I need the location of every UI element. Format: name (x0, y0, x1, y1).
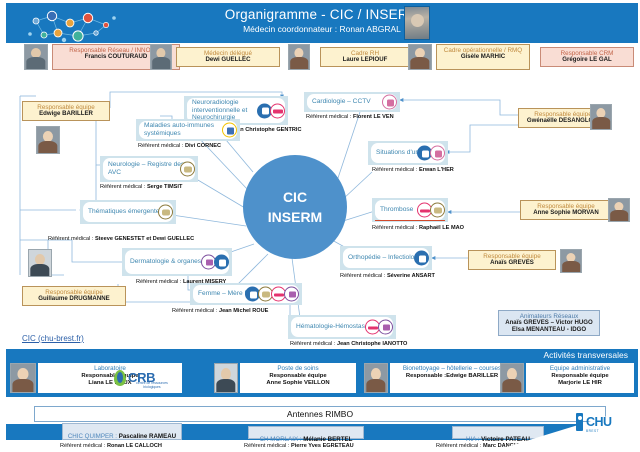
ref-label: Référent médical : (60, 443, 107, 449)
role-responsable-equipe-guillaume-drugmanne[interactable]: Responsable équipe Guillaume DRUGMANNE (22, 286, 126, 306)
ref-thematiques-emergentes: Référent médical : Steeve GENESTET et De… (48, 236, 194, 242)
ref-hematologie-hemostase: Référent médical : Jean Christophe IANOT… (290, 341, 407, 347)
role-name: Grégoire LE GAL (543, 57, 631, 64)
role-responsable-equipe-anais-greves[interactable]: Responsable équipe Anaïs GREVES (468, 250, 556, 270)
role-medecin-delegue[interactable]: Médecin délégué Dewi GUELLEC (176, 47, 280, 67)
photo-anne-sophie-morvan (608, 198, 630, 222)
ref-label: Référent médical : (138, 143, 185, 149)
theme-situations-urgence[interactable]: Situations d'urgence (368, 141, 448, 165)
fhu-logo-icon (430, 203, 445, 218)
photo-anne-sophie-veillon (214, 363, 238, 393)
theme-thrombose[interactable]: Thrombose (372, 198, 448, 222)
role-responsable-equipe-anne-sophie-morvan[interactable]: Responsable équipe Anne Sophie MORVAN (520, 200, 612, 220)
antennes-rimbo-title: Antennes RIMBO (287, 409, 353, 419)
theme-neurologie-avc[interactable]: Neurologie – Registre des AVC (100, 156, 198, 182)
photo-dewi-guellec (150, 44, 172, 70)
theme-hematologie-hemostase[interactable]: Hématologie-Hémostase (288, 315, 396, 339)
chu-logo-name: CHU (586, 415, 612, 429)
fhu-logo-icon (158, 205, 173, 220)
ref-ch-morlaix: Référent médical : Pierre Yves EGRETEAU (244, 443, 354, 449)
theme-label: Thématiques émergentes (80, 208, 163, 216)
ref-femme-mere-enfant: Référent médical : Jean Michel ROUE (172, 308, 268, 314)
site-link-cic-chu-brest[interactable]: CIC (chu-brest.fr) (22, 334, 84, 343)
role-name: Anne Sophie MORVAN (523, 210, 609, 217)
transversal-title: Bionettoyage – hôtellerie – courses (390, 365, 514, 373)
fhu-logo-icon (180, 162, 195, 177)
center-line1: CIC (283, 187, 307, 207)
ref-orthopedie-infectiologie: Référent médical : Séverine ANSART (340, 273, 435, 279)
theme-logos (182, 162, 195, 177)
antenna-site: CH MORLAIX : (260, 436, 304, 443)
transversal-item-bionettoyage[interactable]: Bionettoyage – hôtellerie – courses Resp… (390, 363, 514, 393)
theme-label: Thrombose (372, 206, 413, 214)
role-name: Dewi GUELLEC (179, 57, 277, 64)
theme-logos (203, 255, 229, 270)
photo-gwenaelle-desanglois (590, 104, 612, 130)
partner-logo-icon (284, 287, 299, 302)
center-line2: INSERM (268, 207, 322, 227)
chu-brest-logo: CHU BREST (576, 410, 632, 434)
theme-label: Orthopédie – Infectiologie (340, 254, 423, 262)
ref-label: Référent médical : (136, 279, 183, 285)
antenna-text: CHIC QUIMPER : Pascaline RAMEAU (68, 433, 176, 440)
organigramme-page: Organigramme - CIC / INSERM Médecin coor… (0, 0, 640, 452)
ref-name: Steeve GENESTET et Dewi GUELLEC (95, 236, 194, 242)
ref-name: Séverine ANSART (387, 273, 435, 279)
ref-chic-quimper: Référent médical : Ronan LE CALLOCH (60, 443, 162, 449)
inserm-logo-icon (214, 255, 229, 270)
ref-maladies-auto-immunes: Référent médical : Divi CORNEC (138, 143, 221, 149)
ref-label: Référent médical : (290, 341, 337, 347)
ref-name: Pierre Yves EGRETEAU (291, 443, 354, 449)
ref-name: Divi CORNEC (185, 143, 221, 149)
ref-label: Référent médical : (48, 236, 95, 242)
role-responsable-crm[interactable]: Responsable CRM Grégoire LE GAL (540, 47, 634, 67)
ref-name: Jean Christophe GENTRIC (231, 127, 302, 133)
ref-name: Ronan LE CALLOCH (107, 443, 162, 449)
ref-label: Référent médical : (172, 308, 219, 314)
partner-logo-icon (430, 146, 445, 161)
antenna-site: CHIC QUIMPER : (68, 433, 119, 440)
antennes-rimbo-header: Antennes RIMBO (34, 406, 606, 422)
photo-edwige-bariller-bionettoyage (364, 363, 388, 393)
theme-logos (160, 205, 173, 220)
role-name: Anaïs GREVES (471, 260, 553, 267)
antenna-text: HIA : Victoire PATEAU (466, 436, 530, 443)
role-name: Gisèle MARHIC (439, 54, 527, 61)
antenna-text: CH MORLAIX : Mélanie BERTEL (260, 436, 353, 443)
role-name: Edwige BARILLER (25, 111, 107, 118)
center-node-cic-inserm: CIC INSERM (243, 155, 347, 259)
ref-neurologie-avc: Référent médical : Serge TIMSIT (100, 184, 182, 190)
photo-marjorie-le-hir (500, 363, 524, 393)
theme-neuroradiologie[interactable]: Neuroradiologie interventionnelle et Neu… (184, 96, 288, 125)
theme-logos (419, 146, 445, 161)
theme-dermatologie[interactable]: Dermatologie & organes des sens (122, 248, 232, 276)
antenna-hia[interactable]: HIA : Victoire PATEAU (452, 426, 544, 439)
ref-thrombose: Référent médical : Raphaël LE MAO (372, 225, 464, 231)
antenna-ch-morlaix[interactable]: CH MORLAIX : Mélanie BERTEL (248, 426, 364, 439)
theme-logos (419, 203, 445, 218)
theme-logos (259, 103, 285, 118)
theme-logos (416, 251, 429, 266)
ref-label: Référent médical : (340, 273, 387, 279)
ref-label: Référent médical : (244, 443, 291, 449)
photo-francis-couturaud (24, 44, 48, 70)
transversal-band-title: Activités transversales (543, 350, 628, 360)
photo-guillaume-drugmanne (28, 249, 52, 277)
theme-logos (247, 287, 299, 302)
ref-name: Erwan L'HER (419, 167, 454, 173)
transversal-item-poste-de-soins[interactable]: Poste de soins Responsable équipe Anne S… (240, 363, 356, 393)
transversal-title: Poste de soins (240, 365, 356, 373)
fcrin-logo-icon (270, 103, 285, 118)
transversal-item-laboratoire[interactable]: Laboratoire Responsable équipe Liana LE … (38, 363, 182, 393)
ref-label: Référent médical : (100, 184, 147, 190)
ref-name: Jean Christophe IANOTTO (337, 341, 407, 347)
theme-logos (384, 95, 397, 110)
theme-label: Cardiologie – CCTV (304, 98, 371, 106)
theme-logos (224, 123, 237, 138)
theme-label: Hématologie-Hémostase (288, 323, 369, 331)
photo-liana-le-roux (10, 363, 36, 393)
ref-name: Jean Michel ROUE (219, 308, 268, 314)
ref-label: Référent médical : (372, 167, 419, 173)
ref-label: Référent médical : (372, 225, 419, 231)
page-title: Organigramme - CIC / INSERM (6, 7, 638, 22)
theme-logos (367, 320, 393, 335)
photo-gisele-marhic (408, 44, 432, 70)
antenna-contact: Pascaline RAMEAU (119, 433, 176, 440)
antenna-contact: Mélanie BERTEL (303, 436, 352, 443)
animateurs-line2: Elsa MENANTEAU - IDGO (501, 327, 597, 334)
chu-logo-sub: BREST (586, 429, 599, 433)
role-name: Laure LEPIOUF (323, 57, 407, 64)
transversal-role: Responsable équipe (240, 373, 356, 380)
ref-cardiologie-cctv: Référent médical : Florent LE VEN (306, 114, 394, 120)
transversal-role: Responsable :Edwige BARILLER (390, 373, 514, 380)
role-name: Guillaume DRUGMANNE (25, 296, 123, 303)
transversal-role: Responsable équipe (526, 373, 634, 380)
ref-name: Raphaël LE MAO (419, 225, 464, 231)
page-subtitle: Médecin coordonnateur : Ronan ABGRAL (6, 24, 638, 34)
theme-maladies-auto-immunes[interactable]: Maladies auto-immunes systémiques (136, 119, 240, 141)
ref-name: Serge TIMSIT (147, 184, 182, 190)
ref-name: Florent LE VEN (353, 114, 394, 120)
photo-anais-greves (560, 249, 582, 273)
photo-laure-lepiouf (288, 44, 310, 70)
page-header: Organigramme - CIC / INSERM Médecin coor… (6, 3, 638, 43)
antenna-site: HIA : (466, 436, 481, 443)
inserm-logo-icon (414, 251, 429, 266)
role-cadre-operationnelle-rmq[interactable]: Cadre opérationnelle / RMQ Gisèle MARHIC (436, 44, 530, 70)
theme-thematiques-emergentes[interactable]: Thématiques émergentes (80, 200, 176, 224)
transversal-item-equipe-administrative[interactable]: Equipe administrative Responsable équipe… (526, 363, 634, 393)
antenna-chic-quimper[interactable]: CHIC QUIMPER : Pascaline RAMEAU (62, 423, 182, 440)
theme-femme-mere-enfant[interactable]: Femme – Mère Enfant (190, 283, 302, 305)
antenna-contact: Victoire PATEAU (481, 436, 530, 443)
crb-logo: CRB centre de ressources biologiques (114, 366, 176, 390)
transversal-title: Equipe administrative (526, 365, 634, 373)
ref-label: Référent médical : (306, 114, 353, 120)
photo-edwige-bariller (36, 126, 60, 154)
theme-cardiologie-cctv[interactable]: Cardiologie – CCTV (304, 92, 400, 112)
ref-situations-urgence: Référent médical : Erwan L'HER (372, 167, 454, 173)
coordinator-photo (404, 6, 430, 40)
role-cadre-rh[interactable]: Cadre RH Laure LEPIOUF (320, 47, 410, 67)
transversal-name: Marjorie LE HIR (526, 380, 634, 387)
partner-logo-icon (382, 95, 397, 110)
partner-logo-icon (378, 320, 393, 335)
fhu-logo-icon (222, 123, 237, 138)
ref-label: Référent médical : (436, 443, 483, 449)
box-animateurs-reseaux[interactable]: Animateurs Réseaux Anaïs GREVES – Victor… (498, 310, 600, 336)
transversal-name: Anne Sophie VEILLON (240, 380, 356, 387)
role-responsable-equipe-edwige-bariller[interactable]: Responsable équipe Edwige BARILLER (22, 101, 110, 121)
theme-orthopedie-infectiologie[interactable]: Orthopédie – Infectiologie (340, 246, 432, 270)
